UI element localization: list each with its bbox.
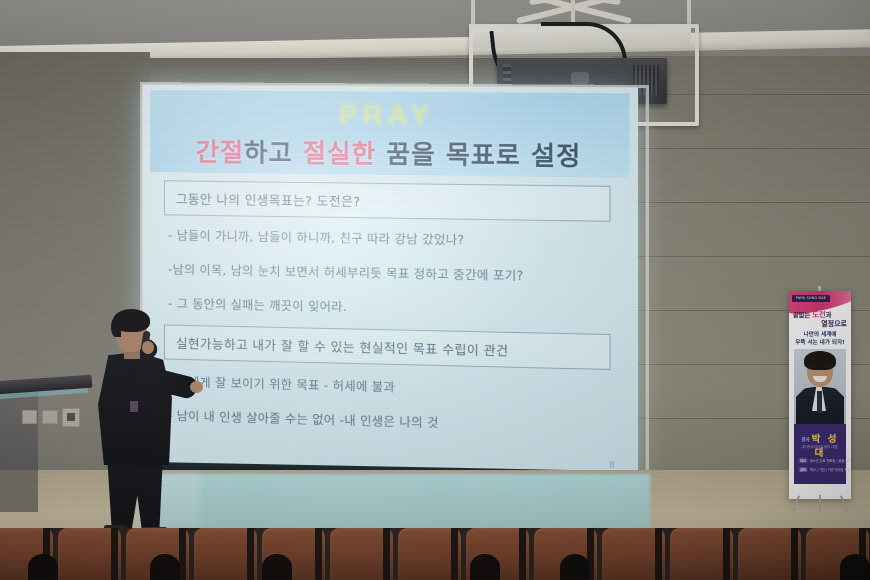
auditorium-seating [0, 528, 870, 580]
audience-head-silhouette [560, 554, 590, 580]
banner-role-label: 강사 [802, 438, 810, 443]
slide-bullet-1-3: - 그 동안의 실패는 깨끗이 잊어라. [168, 295, 617, 321]
presenter-name-badge [130, 401, 138, 412]
projection-screen: PRAY 간절하고 절실한 꿈을 목표로 설정 그동안 나의 인생목표는? 도전… [142, 84, 624, 468]
roll-up-banner: PARK SUNG DAE 끝없는 도전과 열정으로 나만의 세계에우뚝 서는 … [789, 291, 851, 499]
slide-header-band: PRAY 간절하고 절실한 꿈을 목표로 설정 [150, 90, 630, 178]
presenter [86, 305, 198, 533]
banner-subtitle: ㈜ 한국리더십센터 대표 [794, 445, 846, 450]
lecture-hall-photo: PRAY 간절하고 절실한 꿈을 목표로 설정 그동안 나의 인생목표는? 도전… [0, 0, 870, 580]
screen-surface: PRAY 간절하고 절실한 꿈을 목표로 설정 그동안 나의 인생목표는? 도전… [142, 84, 638, 483]
banner-portrait-hair [804, 351, 836, 370]
slide-page-number: 8 [609, 460, 614, 470]
audience-head-silhouette [840, 554, 870, 580]
audience-head-silhouette [262, 554, 292, 580]
slide-bullet-1-1: - 남들이 가니까, 남들이 하니까, 친구 따라 강남 갔었나? [168, 226, 617, 250]
audience-head-silhouette [150, 554, 180, 580]
presenter-legs [106, 457, 164, 531]
presenter-hand-extended [190, 381, 203, 393]
slide-headline: 간절하고 절실한 꿈을 목표로 설정 [150, 132, 630, 174]
banner-credit-row-2: 강의학교 / 기업 / 기관 리더십 특강 다수 [798, 467, 842, 472]
slide-bullet-2-1: - 남에게 잘 보이기 위한 목표 - 허세에 불과 [168, 373, 617, 401]
slide-pray-title: PRAY [150, 98, 630, 133]
audience-head-silhouette [470, 554, 500, 580]
banner-portrait-photo [794, 349, 846, 424]
banner-line-2: 열정으로 [793, 319, 847, 329]
banner-credit-row-1: 저서청소년 진로 멘토링 / 꿈을 이루는 습관 [798, 458, 842, 463]
banner-stand [795, 495, 845, 513]
wall-outlet [62, 408, 80, 427]
slide-question-box-2: 실현가능하고 내가 잘 할 수 있는 현실적인 목표 수립이 관건 [164, 324, 611, 370]
slide-bullet-1-2: -남의 이목, 남의 눈치 보면서 허세부리듯 목표 정하고 중간에 포기? [168, 260, 617, 285]
presenter-hand-mic [142, 341, 154, 354]
slide-bullet-2-2: - 남이 내 인생 살아줄 수는 없어 -내 인생은 나의 것 [168, 407, 617, 436]
audience-head-silhouette [28, 554, 58, 580]
banner-info-panel: 강사박 성 대 ㈜ 한국리더십센터 대표 저서청소년 진로 멘토링 / 꿈을 이… [794, 424, 846, 484]
banner-line-3: 나만의 세계에우뚝 서는 내가 되자! [789, 331, 851, 348]
slide-question-box-1: 그동안 나의 인생목표는? 도전은? [164, 180, 611, 222]
projector-lens [571, 72, 589, 84]
banner-top-tag: PARK SUNG DAE [792, 295, 830, 302]
